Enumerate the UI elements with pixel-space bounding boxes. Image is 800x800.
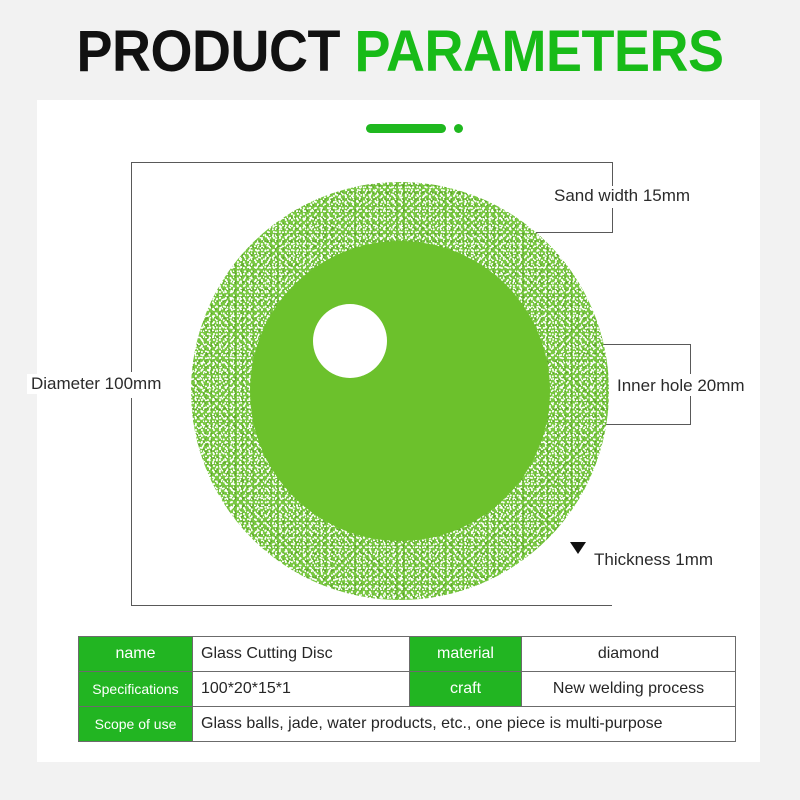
diameter-leader-vert-b [131, 398, 132, 605]
table-row: name Glass Cutting Disc material diamond [79, 637, 736, 672]
inner-hole-label: Inner hole 20mm [613, 376, 749, 396]
spec-value-craft: New welding process [522, 672, 736, 707]
inner-hole-leader-vert-b [690, 396, 691, 424]
thickness-label: Thickness 1mm [590, 550, 717, 570]
specification-table: name Glass Cutting Disc material diamond… [78, 636, 736, 742]
disc-inner-face [250, 241, 550, 541]
disc-center-hole [313, 304, 387, 378]
diameter-leader-vert-a [131, 162, 132, 372]
spec-label-craft: craft [410, 672, 522, 707]
spec-label-material: material [410, 637, 522, 672]
cutting-disc-illustration [191, 182, 609, 600]
page-title: PRODUCT PARAMETERS [28, 20, 772, 84]
diameter-leader-bottom [131, 605, 612, 606]
sand-width-label: Sand width 15mm [550, 186, 694, 206]
table-row: Scope of use Glass balls, jade, water pr… [79, 707, 736, 742]
page-title-parameters: PARAMETERS [355, 19, 724, 84]
inner-hole-leader-vert-a [690, 344, 691, 374]
spec-label-scope-of-use: Scope of use [79, 707, 193, 742]
spec-value-scope-of-use: Glass balls, jade, water products, etc.,… [193, 707, 736, 742]
spec-value-material: diamond [522, 637, 736, 672]
spec-value-specifications: 100*20*15*1 [193, 672, 410, 707]
thickness-arrow-icon [570, 542, 586, 554]
top-marker [330, 120, 460, 140]
table-row: Specifications 100*20*15*1 craft New wel… [79, 672, 736, 707]
spec-label-name: name [79, 637, 193, 672]
page-root: PRODUCT PARAMETERS Sand width 15mm Diame… [0, 0, 800, 800]
pill-dot-icon [454, 124, 463, 133]
sand-width-leader-vert-b [612, 208, 613, 232]
pill-bar-icon [366, 124, 446, 133]
spec-label-specifications: Specifications [79, 672, 193, 707]
sand-width-leader-vert-a [612, 162, 613, 186]
sand-width-leader-top [131, 162, 612, 163]
page-title-product: PRODUCT [77, 19, 340, 84]
spec-value-name: Glass Cutting Disc [193, 637, 410, 672]
diameter-label: Diameter 100mm [27, 374, 165, 394]
